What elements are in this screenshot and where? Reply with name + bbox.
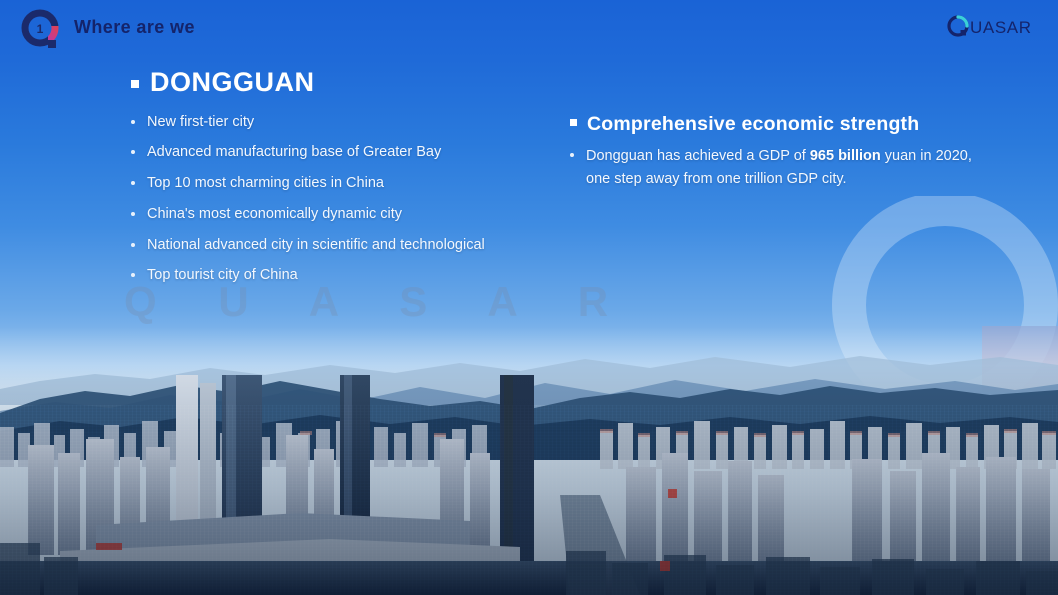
- slide-root: Q U A S A R: [0, 0, 1058, 595]
- dot-bullet-icon: [131, 120, 135, 124]
- dot-bullet-icon: [131, 273, 135, 277]
- list-item: Top 10 most charming cities in China: [131, 173, 561, 195]
- right-content-column: Comprehensive economic strength Dongguan…: [570, 113, 990, 190]
- gdp-statement: Dongguan has achieved a GDP of 965 billi…: [586, 145, 990, 190]
- dot-bullet-icon: [131, 150, 135, 154]
- quasar-ring-logo-icon[interactable]: 1: [16, 6, 66, 52]
- dot-bullet-icon: [131, 243, 135, 247]
- city-skyline: [0, 375, 1058, 595]
- list-item: New first-tier city: [131, 112, 561, 134]
- list-item: Top tourist city of China: [131, 265, 561, 287]
- gdp-statement-pre: Dongguan has achieved a GDP of: [586, 148, 810, 164]
- quasar-brand-logo: UASAR: [946, 14, 1040, 38]
- dot-bullet-icon: [570, 153, 574, 157]
- square-bullet-icon: [570, 119, 577, 126]
- list-item: National advanced city in scientific and…: [131, 235, 561, 257]
- left-content-column: DONGGUAN New first-tier city Advanced ma…: [131, 68, 561, 296]
- slide-header: 1 Where are we UASAR: [0, 0, 1058, 56]
- economic-strength-heading-label: Comprehensive economic strength: [587, 113, 919, 135]
- dongguan-bullet-list: New first-tier city Advanced manufacturi…: [131, 112, 561, 288]
- logo-step-number: 1: [37, 22, 44, 36]
- list-item-label: China's most economically dynamic city: [147, 204, 402, 226]
- list-item-label: New first-tier city: [147, 112, 254, 134]
- list-item: Advanced manufacturing base of Greater B…: [131, 142, 561, 164]
- page-title: Where are we: [74, 17, 195, 38]
- square-bullet-icon: [131, 80, 139, 88]
- list-item-label: Advanced manufacturing base of Greater B…: [147, 142, 441, 164]
- dongguan-heading: DONGGUAN: [131, 68, 561, 98]
- dot-bullet-icon: [131, 212, 135, 216]
- list-item-label: Top tourist city of China: [147, 265, 298, 287]
- svg-text:UASAR: UASAR: [970, 18, 1032, 37]
- dongguan-heading-label: DONGGUAN: [150, 68, 315, 98]
- economic-strength-heading: Comprehensive economic strength: [570, 113, 990, 135]
- dot-bullet-icon: [131, 181, 135, 185]
- list-item: Dongguan has achieved a GDP of 965 billi…: [570, 145, 990, 190]
- gdp-value: 965 billion: [810, 148, 881, 164]
- list-item-label: Top 10 most charming cities in China: [147, 173, 384, 195]
- city-photo: [0, 325, 1058, 595]
- list-item-label: National advanced city in scientific and…: [147, 235, 485, 257]
- list-item: China's most economically dynamic city: [131, 204, 561, 226]
